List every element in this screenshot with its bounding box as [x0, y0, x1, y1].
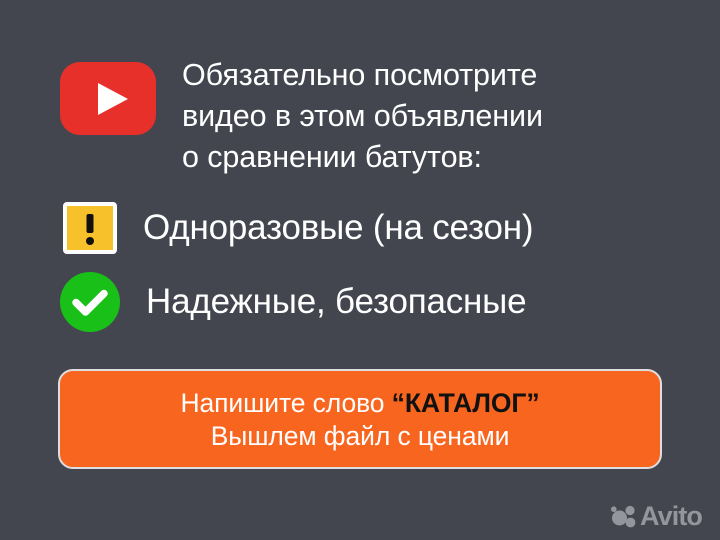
exclamation-bar: [87, 214, 94, 233]
play-triangle-icon: [98, 83, 128, 115]
advertisement-banner: Обязательно посмотрите видео в этом объя…: [0, 0, 720, 540]
bullet-label-disposable: Одноразовые (на сезон): [143, 208, 533, 248]
avito-watermark: Avito: [611, 503, 702, 530]
cta-open-quote: “: [392, 388, 405, 418]
youtube-play-icon[interactable]: [60, 62, 156, 135]
cta-keyword-quoted: “КАТАЛОГ”: [392, 388, 540, 418]
bullet-item-reliable: Надежные, безопасные: [60, 272, 526, 332]
cta-prefix: Напишите слово: [181, 388, 392, 418]
warning-exclamation-icon: [63, 202, 117, 254]
headline-line-2: видео в этом объявлении: [182, 96, 543, 137]
cta-line-1: Напишите слово “КАТАЛОГ”: [181, 387, 540, 419]
headline-line-1: Обязательно посмотрите: [182, 55, 543, 96]
avito-dots-icon: [611, 505, 637, 529]
bullet-label-reliable: Надежные, безопасные: [146, 282, 526, 322]
cta-keyword: КАТАЛОГ: [405, 388, 527, 418]
headline: Обязательно посмотрите видео в этом объя…: [182, 55, 543, 178]
exclamation-dot: [86, 237, 94, 245]
bullet-item-disposable: Одноразовые (на сезон): [60, 202, 533, 254]
cta-line-2: Вышлем файл с ценами: [211, 420, 510, 452]
checkmark-glyph: [60, 272, 120, 332]
headline-line-3: о сравнении батутов:: [182, 137, 543, 178]
check-circle-icon: [60, 272, 120, 332]
header-row: Обязательно посмотрите видео в этом объя…: [60, 55, 543, 178]
cta-button[interactable]: Напишите слово “КАТАЛОГ” Вышлем файл с ц…: [58, 369, 662, 469]
cta-close-quote: ”: [526, 388, 539, 418]
avito-wordmark: Avito: [640, 503, 702, 530]
